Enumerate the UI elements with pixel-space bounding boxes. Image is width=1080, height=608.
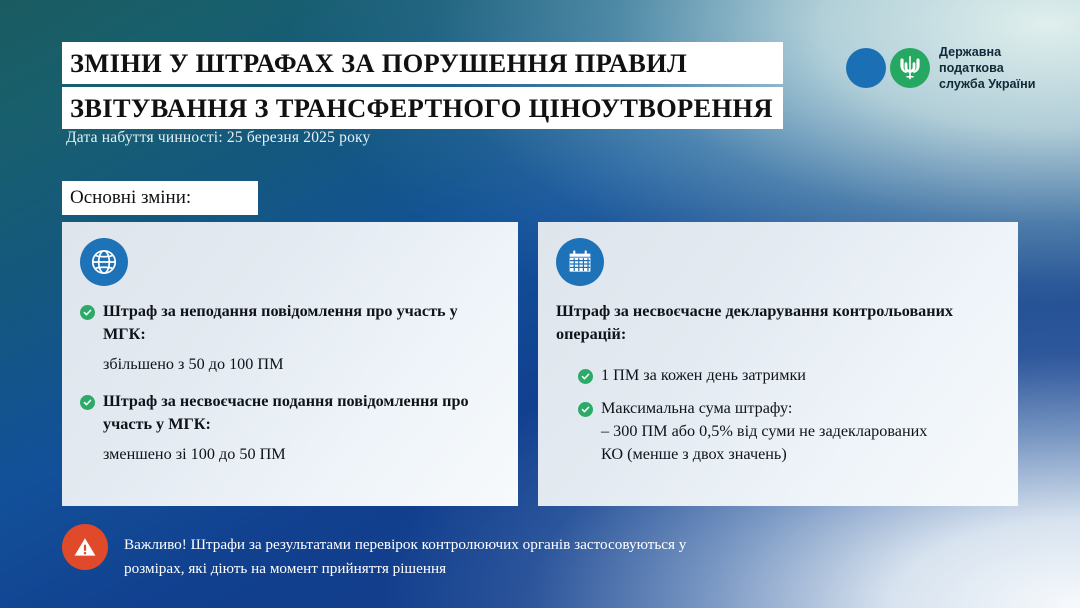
section-label: Основні зміни: xyxy=(62,181,258,215)
list-item-text-line-1: Максимальна сума штрафу: xyxy=(601,397,927,420)
check-bullet-icon xyxy=(578,402,593,417)
warning-icon-glyph xyxy=(72,534,98,560)
list-item-detail: зменшено зі 100 до 50 ПМ xyxy=(103,443,502,466)
check-glyph-icon xyxy=(581,372,590,381)
card-penalties-notification: Штраф за неподання повідомлення про учас… xyxy=(62,222,518,506)
logo-text-line-1: Державна xyxy=(939,44,1035,60)
check-glyph-icon xyxy=(83,308,92,317)
list-item-heading: Штраф за неподання повідомлення про учас… xyxy=(103,300,502,346)
check-bullet-icon xyxy=(80,305,95,320)
card-right-list: 1 ПМ за кожен день затримки Максимальна … xyxy=(578,364,1002,466)
logo-text-line-3: служба України xyxy=(939,76,1035,92)
important-note-text: Важливо! Штрафи за результатами перевіро… xyxy=(124,524,686,581)
check-bullet-icon xyxy=(80,395,95,410)
organization-logo: Державна податкова служба України xyxy=(846,44,1035,92)
list-item-detail: збільшено з 50 до 100 ПМ xyxy=(103,353,502,376)
calendar-icon-glyph xyxy=(565,247,595,277)
important-note: Важливо! Штрафи за результатами перевіро… xyxy=(62,524,686,581)
logo-text-line-2: податкова xyxy=(939,60,1035,76)
list-item: Штраф за неподання повідомлення про учас… xyxy=(80,300,502,346)
check-glyph-icon xyxy=(581,405,590,414)
logo-text: Державна податкова служба України xyxy=(939,44,1035,92)
check-glyph-icon xyxy=(83,398,92,407)
infographic-poster: ЗМІНИ У ШТРАФАХ ЗА ПОРУШЕННЯ ПРАВИЛ ЗВІТ… xyxy=(0,0,1080,608)
list-item-heading: Штраф за несвоєчасне подання повідомленн… xyxy=(103,390,502,436)
warning-icon xyxy=(62,524,108,570)
globe-icon xyxy=(80,238,128,286)
card-right-body: Штраф за несвоєчасне декларування контро… xyxy=(556,300,1002,466)
effective-date: Дата набуття чинності: 25 березня 2025 р… xyxy=(66,129,371,147)
list-item: Максимальна сума штрафу: – 300 ПМ або 0,… xyxy=(578,397,1002,466)
logo-marks xyxy=(846,48,930,88)
card-left-body: Штраф за неподання повідомлення про учас… xyxy=(80,300,502,466)
logo-circle-blue-icon xyxy=(846,48,886,88)
card-penalties-declaration: Штраф за несвоєчасне декларування контро… xyxy=(538,222,1018,506)
card-right-heading: Штраф за несвоєчасне декларування контро… xyxy=(556,300,1002,346)
list-item: Штраф за несвоєчасне подання повідомленн… xyxy=(80,390,502,436)
list-item-text: 1 ПМ за кожен день затримки xyxy=(601,364,806,387)
logo-circle-green-icon xyxy=(890,48,930,88)
list-item-text-line-2: – 300 ПМ або 0,5% від суми не задекларов… xyxy=(601,420,927,443)
trident-icon xyxy=(899,55,921,81)
title-line-1: ЗМІНИ У ШТРАФАХ ЗА ПОРУШЕННЯ ПРАВИЛ xyxy=(62,42,783,84)
list-item-text-line-3: КО (менше з двох значень) xyxy=(601,443,927,466)
globe-icon-glyph xyxy=(89,247,119,277)
important-note-line-2: розмірах, які діють на момент прийняття … xyxy=(124,557,686,581)
page-title: ЗМІНИ У ШТРАФАХ ЗА ПОРУШЕННЯ ПРАВИЛ ЗВІТ… xyxy=(62,42,783,129)
title-line-2: ЗВІТУВАННЯ З ТРАНСФЕРТНОГО ЦІНОУТВОРЕННЯ xyxy=(62,87,783,129)
calendar-icon xyxy=(556,238,604,286)
important-note-line-1: Важливо! Штрафи за результатами перевіро… xyxy=(124,533,686,557)
list-item-text-group: Максимальна сума штрафу: – 300 ПМ або 0,… xyxy=(601,397,927,466)
list-item: 1 ПМ за кожен день затримки xyxy=(578,364,1002,387)
check-bullet-icon xyxy=(578,369,593,384)
